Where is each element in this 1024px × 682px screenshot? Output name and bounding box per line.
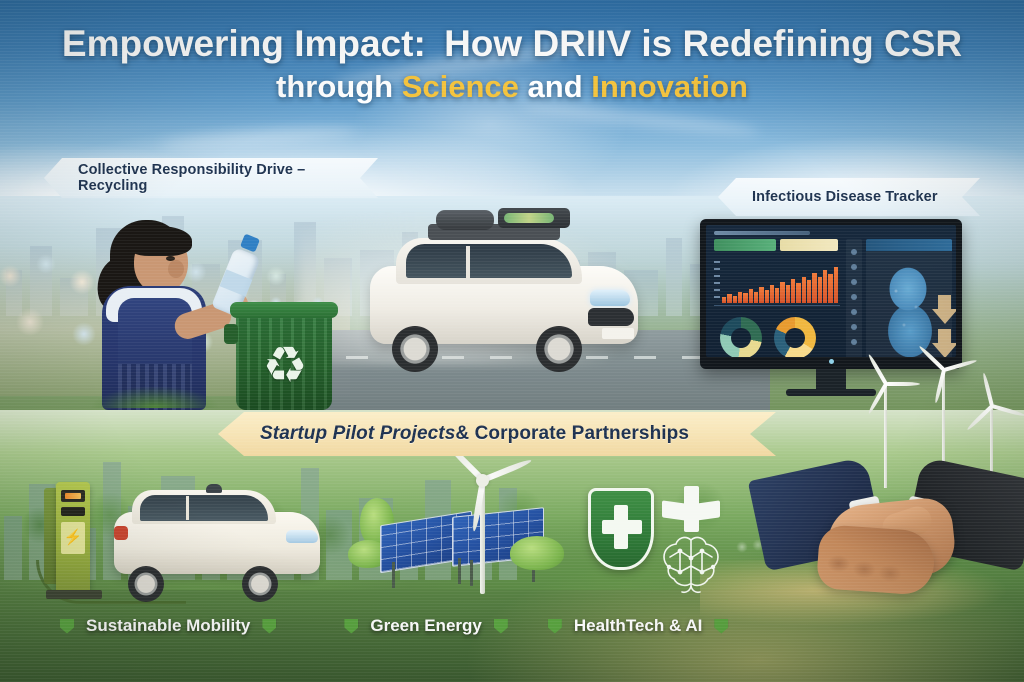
car-grille (588, 308, 634, 326)
wind-turbine-blade (867, 354, 887, 385)
scene-sensor-vehicle (352, 204, 656, 388)
recycling-bin-rim (230, 302, 338, 318)
bar-chart-bar (812, 273, 816, 303)
bar-chart-bar (759, 287, 763, 303)
title-highlight-science: Science (402, 69, 519, 104)
title-line2-prefix: through (276, 69, 402, 104)
bar-chart-bar (738, 292, 742, 303)
wind-turbine-blade (943, 359, 977, 372)
ribbon-collective-responsibility: Collective Responsibility Drive – Recycl… (44, 158, 378, 198)
dashboard-nav-dot (851, 309, 857, 315)
ev-wheel (242, 566, 278, 602)
knuckles-shading (823, 551, 922, 598)
charger-display (61, 490, 85, 502)
girl-fringe (126, 226, 192, 256)
bar-chart-bar (775, 288, 779, 303)
scene-disease-dashboard-monitor (700, 219, 962, 369)
dashboard-nav-dot (851, 249, 857, 255)
dashboard-nav-dot (851, 339, 857, 345)
leaf-icon (494, 619, 508, 634)
pillar-label: HealthTech & AI (574, 616, 702, 636)
bar-chart-bar (749, 289, 753, 303)
ribbon-startup-pilot-projects: Startup Pilot Projects & Corporate Partn… (218, 412, 776, 456)
pillar-label-row: Sustainable Mobility Green Energy Health… (60, 608, 820, 644)
white-cross-emblem-icon (662, 486, 720, 534)
donut-chart-b (774, 317, 816, 357)
ribbon-infectious-disease-tracker: Infectious Disease Tracker (718, 178, 980, 216)
scene-green-energy (352, 462, 582, 610)
monitor-stand (816, 369, 846, 391)
bar-chart-bar (765, 290, 769, 303)
bar-chart-bar (780, 282, 784, 303)
leaf-icon (548, 619, 562, 634)
ribbon-recycling-label: Collective Responsibility Drive – Recycl… (78, 162, 378, 194)
solar-panel-leg (392, 562, 395, 588)
leaf-icon (714, 619, 728, 634)
health-shield-icon (588, 488, 654, 570)
lidar-sensor-icon (436, 210, 494, 230)
dashboard-title-bar (714, 231, 810, 235)
bar-chart-bar (818, 277, 822, 303)
bar-chart-bar (722, 297, 726, 303)
scene-partnership-handshake (762, 458, 1024, 622)
monitor-power-led (829, 359, 834, 364)
bush-shape (510, 536, 564, 570)
pillar-green-energy: Green Energy (344, 616, 508, 636)
pillar-label: Green Energy (370, 616, 482, 636)
title-line1-part1: Empowering Impact: (62, 23, 426, 64)
car-wheel (536, 326, 582, 372)
wind-turbine-hub (476, 474, 489, 487)
grass-tuft (90, 386, 220, 408)
wind-turbine-blade (991, 404, 1024, 417)
pillar-sustainable-mobility: Sustainable Mobility (60, 616, 276, 636)
charger-card-slot (61, 507, 85, 516)
scene-recycling: ♻ (96, 214, 311, 404)
ribbon-tracker-label: Infectious Disease Tracker (752, 189, 938, 205)
solar-panel-leg (458, 558, 461, 584)
title-highlight-innovation: Innovation (591, 69, 748, 104)
ev-roof-sensor-icon (206, 484, 222, 493)
bar-chart-bar (770, 285, 774, 303)
title-line1-part2: How DRIIV is Redefining CSR (444, 23, 962, 64)
title-line2-middle: and (519, 69, 591, 104)
ribbon-startup-emph: Startup Pilot Projects (260, 423, 455, 445)
ev-taillight (114, 526, 128, 540)
download-arrow-icon (932, 309, 956, 324)
bar-chart (722, 259, 838, 303)
wind-turbine-blade (482, 458, 532, 483)
bar-chart-bar (791, 279, 795, 303)
dashboard-nav-dot (851, 279, 857, 285)
charging-bolt-icon (61, 522, 85, 554)
dashboard-status-pill-cream (780, 239, 838, 251)
leaf-icon (262, 619, 276, 634)
car-wheel (392, 326, 438, 372)
page-title: Empowering Impact: How DRIIV is Redefini… (0, 24, 1024, 105)
pillar-healthtech-ai: HealthTech & AI (548, 616, 728, 636)
leaf-icon (344, 619, 358, 634)
wind-turbine-blade (982, 373, 994, 407)
recycle-icon: ♻ (256, 338, 314, 392)
leaf-icon (60, 619, 74, 634)
bar-chart-axis (714, 305, 840, 306)
bar-chart-bar (727, 294, 731, 303)
headlight (590, 290, 630, 306)
monitor-screen (706, 225, 956, 357)
bar-chart-bar (743, 293, 747, 303)
scene-ev-charging (28, 478, 328, 610)
charger-base (46, 590, 102, 599)
bar-chart-bar (796, 283, 800, 303)
sensor-bar-icon (498, 208, 570, 228)
medical-cross-icon (602, 520, 642, 534)
bar-chart-bar (786, 285, 790, 303)
infographic-poster: Empowering Impact: How DRIIV is Redefini… (0, 0, 1024, 682)
recycling-bin-handle (224, 324, 238, 344)
bar-chart-axis-labels (714, 261, 720, 301)
bar-chart-bar (802, 277, 806, 303)
ribbon-startup-rest: & Corporate Partnerships (455, 423, 689, 445)
bar-chart-bar (834, 267, 838, 303)
detail-card-header (866, 239, 952, 251)
pillar-label: Sustainable Mobility (86, 616, 250, 636)
bar-chart-bar (828, 274, 832, 303)
ev-car-windows (140, 495, 268, 521)
car-windows (406, 244, 572, 278)
license-plate (602, 328, 634, 339)
dashboard-status-pill-green (714, 239, 776, 251)
ev-headlight (286, 530, 318, 543)
donut-chart-a (720, 317, 762, 357)
bar-chart-bar (807, 280, 811, 303)
girl-eye (166, 256, 175, 261)
download-arrow-icon (938, 329, 951, 343)
bar-chart-bar (823, 270, 827, 303)
ev-wheel (128, 566, 164, 602)
dashboard-nav-dot (851, 324, 857, 330)
solar-panel-leg (470, 560, 473, 586)
bar-chart-bar (733, 296, 737, 303)
scene-healthtech-ai (588, 486, 768, 606)
dashboard-nav-dot (851, 294, 857, 300)
wind-turbine-blade (886, 382, 920, 386)
dashboard-side-nav (846, 239, 862, 357)
ai-brain-icon (652, 530, 730, 596)
bar-chart-bar (754, 292, 758, 303)
dashboard-nav-dot (851, 264, 857, 270)
download-arrow-icon (938, 295, 951, 309)
